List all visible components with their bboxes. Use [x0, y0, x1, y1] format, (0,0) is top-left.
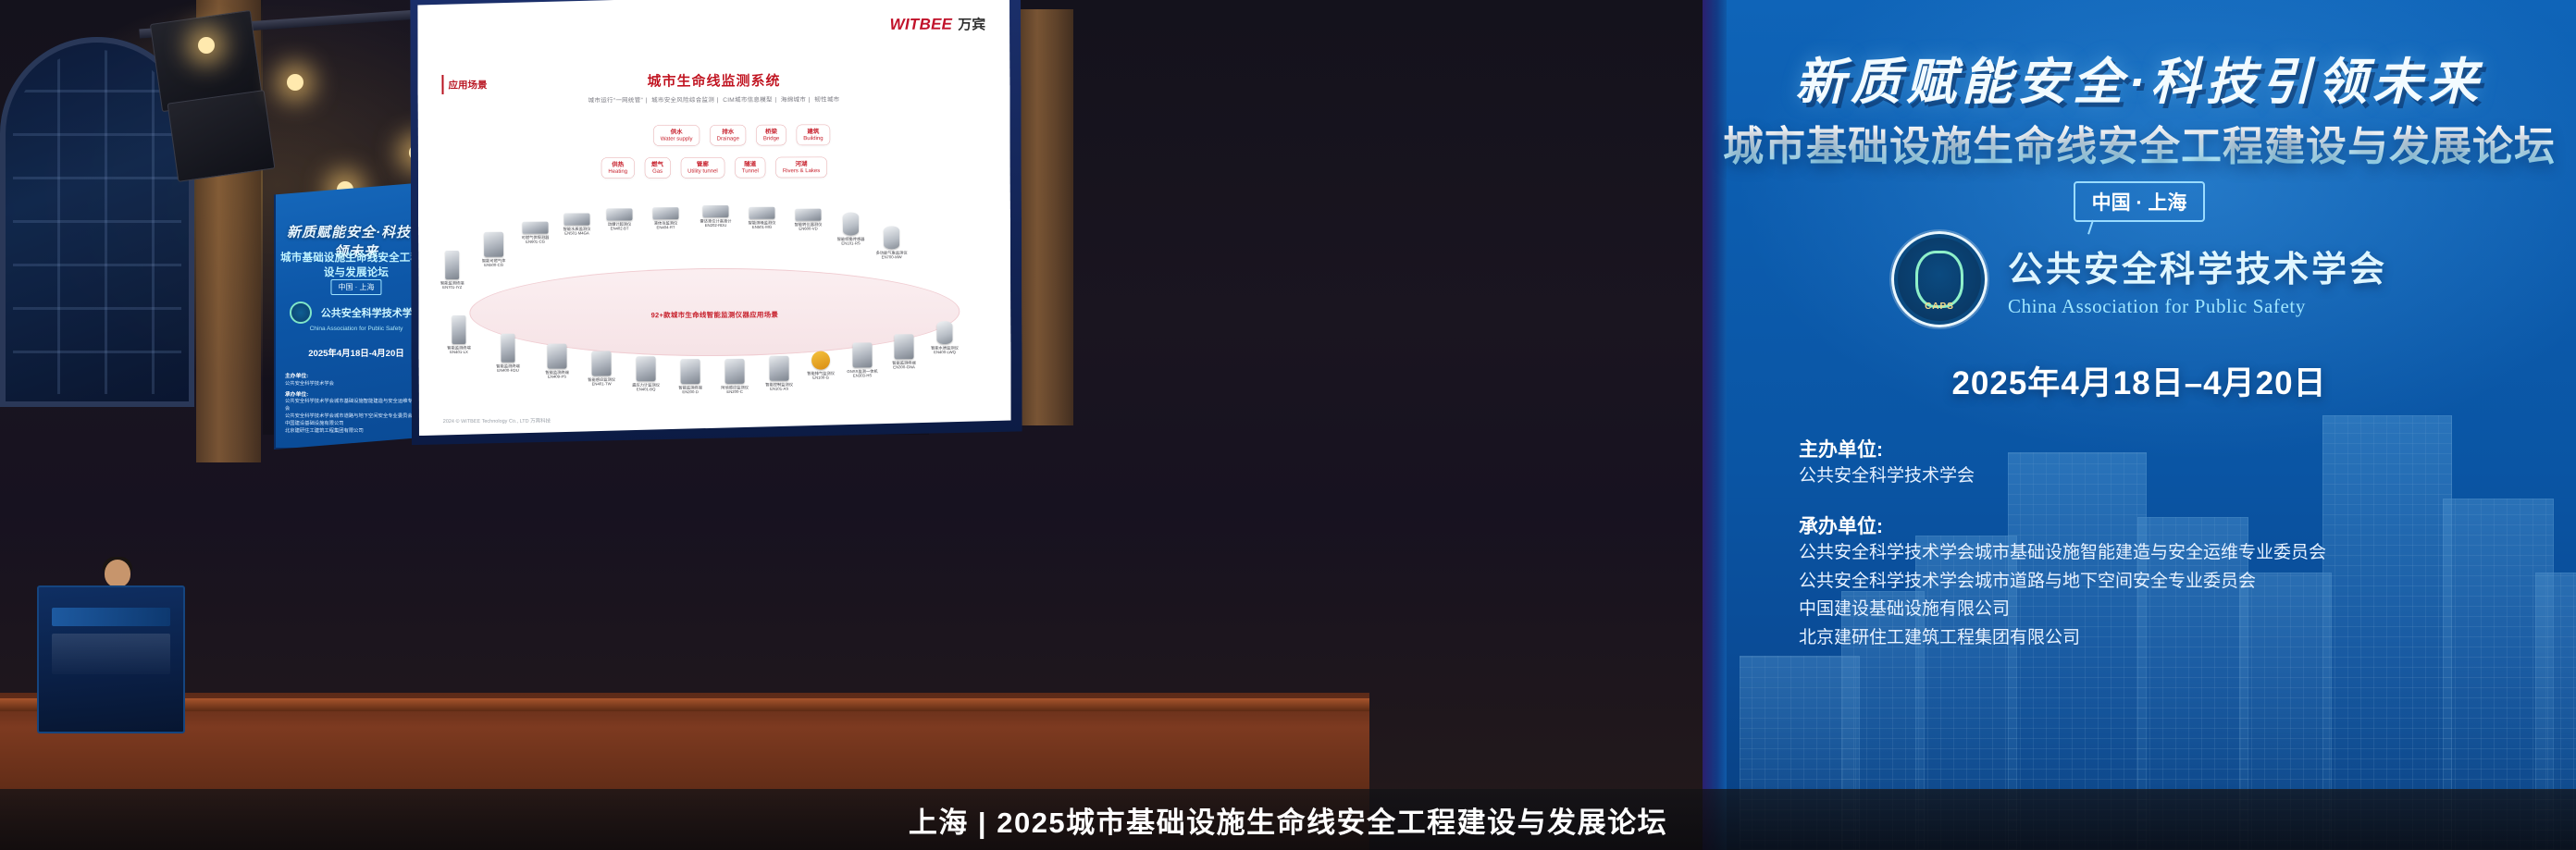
scene-pill-utility-tunnel: 管廊 Utility tunnel [681, 157, 725, 179]
caption-bar: 上海 | 2025城市基础设施生命线安全工程建设与发展论坛 [0, 789, 2576, 850]
device-count-label: 92+款城市生命线智能监测仪器应用场景 [418, 309, 1010, 321]
device-model: EN401-TW [582, 382, 622, 387]
subtitle-item: 韧性城市 [814, 96, 839, 104]
main-led-wall: 新质赋能安全·科技引领未来 城市基础设施生命线安全工程建设与发展论坛 中国 · … [1703, 0, 2576, 850]
device-model: EN303-HS [843, 374, 883, 378]
banner-organizations: 主办单位: 公共安全科学技术学会 承办单位: 公共安全科学技术学会城市基础设施智… [285, 370, 429, 436]
witbee-logo-en: WITBEE [890, 16, 953, 34]
scene-label-en: Utility tunnel [687, 167, 718, 174]
device-model: EN200-C [715, 390, 755, 395]
device-item: 智能水质监测仪EN400-LWQ [924, 321, 964, 354]
projection-screen: WITBEE 万宾 应用场景 城市生命线监测系统 城市运行“一网统管”| 城市安… [417, 0, 1011, 454]
device-icon [852, 342, 872, 367]
led-organizer: 北京建研住工建筑工程集团有限公司 [1799, 624, 2520, 653]
slide-footer: 2024 © WITBEE Technology Co., LTD 万宾科技 [443, 417, 551, 425]
device-model: EN100-G [801, 376, 841, 380]
led-host: 公共安全科学技术学会 [1799, 462, 2520, 491]
led-organizations: 主办单位: 公共安全科学技术学会 承办单位: 公共安全科学技术学会城市基础设施智… [1799, 435, 2520, 653]
led-event-date: 2025年4月18日–4月20日 [1703, 357, 2576, 404]
device-item: 智能监测终端EN200-D [671, 359, 711, 394]
scene-label-en: Bridge [763, 135, 779, 142]
stage-light [287, 74, 303, 91]
subtitle-item: 城市运行“一网统管” [588, 96, 643, 104]
banner-location-chip: 中国 · 上海 [330, 279, 381, 295]
device-item: 智能可燃气体EN500-CG [474, 232, 514, 267]
device-icon [652, 207, 678, 219]
led-caps-cn: 公共安全科学技术学会 [2008, 240, 2387, 291]
scene-pill-tunnel: 隧道 Tunnel [735, 157, 765, 178]
device-model: EN600-VD [788, 227, 828, 231]
device-item: 多功能气象监测仪EN700-MW [872, 226, 911, 259]
device-icon [637, 356, 656, 381]
banner-caps-cn: 公共安全科学技术学会 [321, 308, 423, 319]
scene-pill-rivers-lakes: 河湖 Rivers & Lakes [775, 157, 826, 179]
device-item: 智能测噪监测仪EN501-MG [742, 207, 782, 229]
led-organizer-label: 承办单位: [1799, 511, 2520, 539]
device-icon [681, 359, 700, 384]
banner-organizer-label: 承办单位: [285, 391, 429, 400]
led-host-label: 主办单位: [1799, 435, 2520, 462]
device-model: EN700-MW [872, 255, 911, 260]
device-item: 阿他感应监测仪EN200-C [715, 359, 755, 394]
scene-label-en: Tunnel [742, 167, 759, 174]
device-icon [702, 205, 728, 217]
device-item: 智能监测终端EN401-LX [439, 315, 478, 354]
scene-label-en: Gas [651, 168, 663, 175]
device-icon [894, 334, 913, 359]
device-model: EN400-LWQ [924, 351, 964, 355]
caption-text: 上海 | 2025城市基础设施生命线安全工程建设与发展论坛 [909, 799, 1667, 841]
scene-pill-bridge: 桥梁 Bridge [756, 125, 786, 145]
scene-label-en: Rivers & Lakes [783, 167, 820, 174]
device-item: 智能转位器测仪EN600-VD [788, 209, 828, 231]
device-item: 智能倾角传感器EN101-RS [831, 212, 871, 245]
device-item: 智能监测终端EN400-RDU [488, 334, 527, 373]
caps-seal-icon [290, 302, 312, 324]
banner-organizer: 公共安全科学技术学会城市道路与地下空间安全专业委员会 [285, 413, 429, 421]
device-item: 雷达液位计高液计EN202-RDU [696, 205, 736, 228]
banner-forum-title: 城市基础设施生命线安全工程建设与发展论坛 [279, 250, 433, 279]
subtitle-item: 海绵城市 [781, 96, 806, 104]
device-item: 智能监测终端EN409-PS [537, 344, 576, 379]
line-array-speaker [167, 90, 276, 182]
banner-host-label: 主办单位: [285, 373, 429, 381]
scene-pill-drainage: 排水 Drainage [710, 125, 746, 146]
led-forum-title: 城市基础设施生命线安全工程建设与发展论坛 [1703, 113, 2576, 172]
witbee-logo-cn: 万宾 [958, 13, 985, 33]
device-model: EN101-AS [760, 387, 799, 391]
device-item: 可燃气体探测器EN601-CG [515, 222, 555, 244]
device-icon [770, 356, 789, 381]
device-icon [452, 315, 465, 344]
device-model: EN200-D [671, 390, 711, 395]
device-model: EN409-PS [538, 375, 577, 379]
device-item: 智能感应监测仪EN401-TW [581, 351, 621, 386]
led-organizer: 中国建设基础设施有限公司 [1799, 596, 2520, 624]
device-icon [591, 351, 611, 376]
device-icon [884, 226, 899, 249]
device-item: 震压力计监测仪EN401-BQ [626, 356, 666, 391]
device-icon [484, 232, 503, 257]
scene-label-en: Heating [608, 168, 627, 175]
podium-band [52, 608, 170, 626]
led-location-text: 中国 · 上海 [2074, 181, 2206, 222]
device-model: EN601-CG [515, 240, 555, 244]
device-model: EN701-IYZ [432, 286, 472, 290]
device-icon [606, 208, 632, 220]
banner-organizer: 北京建研住工建筑工程集团有限公司 [285, 428, 429, 436]
witbee-logo: WITBEE 万宾 [890, 13, 986, 33]
device-icon [725, 359, 745, 384]
scene-label-en: Water supply [661, 136, 693, 142]
device-model: EN402-BT [600, 227, 639, 231]
podium-logo-plate [52, 634, 170, 674]
led-caps-block: CAPS 公共安全科学技术学会 China Association for Pu… [1703, 231, 2576, 327]
slide-canvas: WITBEE 万宾 应用场景 城市生命线监测系统 城市运行“一网统管”| 城市安… [417, 0, 1011, 436]
device-icon [936, 321, 952, 344]
presenter-head [105, 560, 130, 587]
device-item: GNSS监测一体机EN303-HS [842, 342, 882, 377]
device-item: 智能监测终端EN701-IYZ [432, 251, 472, 289]
led-organizer: 公共安全科学技术学会城市道路与地下空间安全专业委员会 [1799, 568, 2520, 597]
stage-light [198, 37, 215, 54]
device-model: EN101-RS [831, 241, 871, 246]
caps-seal-icon: CAPS [1891, 231, 1988, 327]
caps-seal-text: CAPS [1891, 302, 1988, 312]
subtitle-item: CIM城市信息模型 [723, 96, 773, 104]
device-model: EN501-MG [742, 225, 782, 229]
device-model: EN501-M4GA [557, 231, 597, 236]
device-icon [563, 213, 589, 225]
device-item: 智能水质监测仪EN501-M4GA [557, 213, 597, 235]
device-icon [445, 251, 459, 279]
device-icon [811, 351, 830, 370]
scene-pill-water-supply: 供水 Water supply [653, 125, 700, 146]
podium [37, 585, 185, 733]
banner-host: 公共安全科学技术学会 [285, 381, 429, 388]
device-model: EN404-RT [646, 226, 686, 230]
device-model: EN400-RDU [489, 368, 528, 373]
presentation-slide: WITBEE 万宾 应用场景 城市生命线监测系统 城市运行“一网统管”| 城市安… [417, 0, 1011, 436]
device-icon [843, 212, 859, 235]
device-icon [795, 209, 821, 221]
led-calligraphy-title: 新质赋能安全·科技引领未来 [1703, 41, 2576, 114]
scene-pill-gas: 燃气 Gas [645, 157, 671, 178]
led-location-chip: 中国 · 上海 [1703, 181, 2576, 222]
led-organizer: 公共安全科学技术学会城市基础设施智能建造与安全运维专业委员会 [1799, 539, 2520, 568]
conference-photo: 新质赋能安全·科技引领未来 城市基础设施生命线安全工程建设与发展论坛 中国 · … [0, 0, 2576, 850]
slide-title: 城市生命线监测系统 [417, 68, 1009, 91]
banner-organizer: 公共安全科学技术学会城市基础设施智能建造与安全运维专业委员会 [285, 399, 429, 413]
subtitle-item: 城市安全风险综合监测 [651, 96, 714, 104]
led-caps-names: 公共安全科学技术学会 China Association for Public … [2008, 240, 2387, 318]
slide-subtitle: 城市运行“一网统管”| 城市安全风险综合监测| CIM城市信息模型| 海绵城市|… [418, 93, 1010, 105]
scene-label-en: Building [803, 135, 823, 142]
device-item: 智能监测终端EN300-GNA [884, 334, 923, 369]
device-model: EN202-RDU [696, 224, 736, 228]
stage-floor-edge [0, 698, 1369, 711]
wall-panel-wood [1018, 9, 1073, 425]
device-item: 智能控制监测仪EN101-AS [760, 356, 799, 391]
device-model: EN401-LX [439, 351, 478, 355]
scene-pill-building: 建筑 Building [797, 125, 830, 145]
device-icon [501, 334, 514, 363]
scene-label-en: Drainage [717, 135, 739, 142]
device-icon [547, 344, 566, 369]
device-model: EN401-BQ [626, 388, 666, 392]
device-item: 动爆计超测仪EN402-BT [600, 208, 639, 230]
device-model: EN300-GNA [885, 365, 924, 370]
led-caps-en: China Association for Public Safety [2008, 295, 2387, 318]
scene-pill-heating: 供热 Heating [601, 157, 635, 178]
device-icon [749, 207, 774, 219]
device-model: EN500-CG [474, 263, 514, 267]
device-item: 液体浓监测仪EN404-RT [646, 207, 686, 229]
device-item: 智能排气监测仪EN100-G [800, 351, 840, 380]
scene-row-upper: 供水 Water supply 排水 Drainage 桥梁 Bridge 建筑… [418, 124, 1010, 147]
device-icon [522, 222, 548, 234]
scene-row-lower: 供热 Heating 燃气 Gas 管廊 Utility tunnel 隧道 T… [418, 156, 1010, 179]
banner-organizer: 中国建设基础设施有限公司 [285, 421, 429, 428]
